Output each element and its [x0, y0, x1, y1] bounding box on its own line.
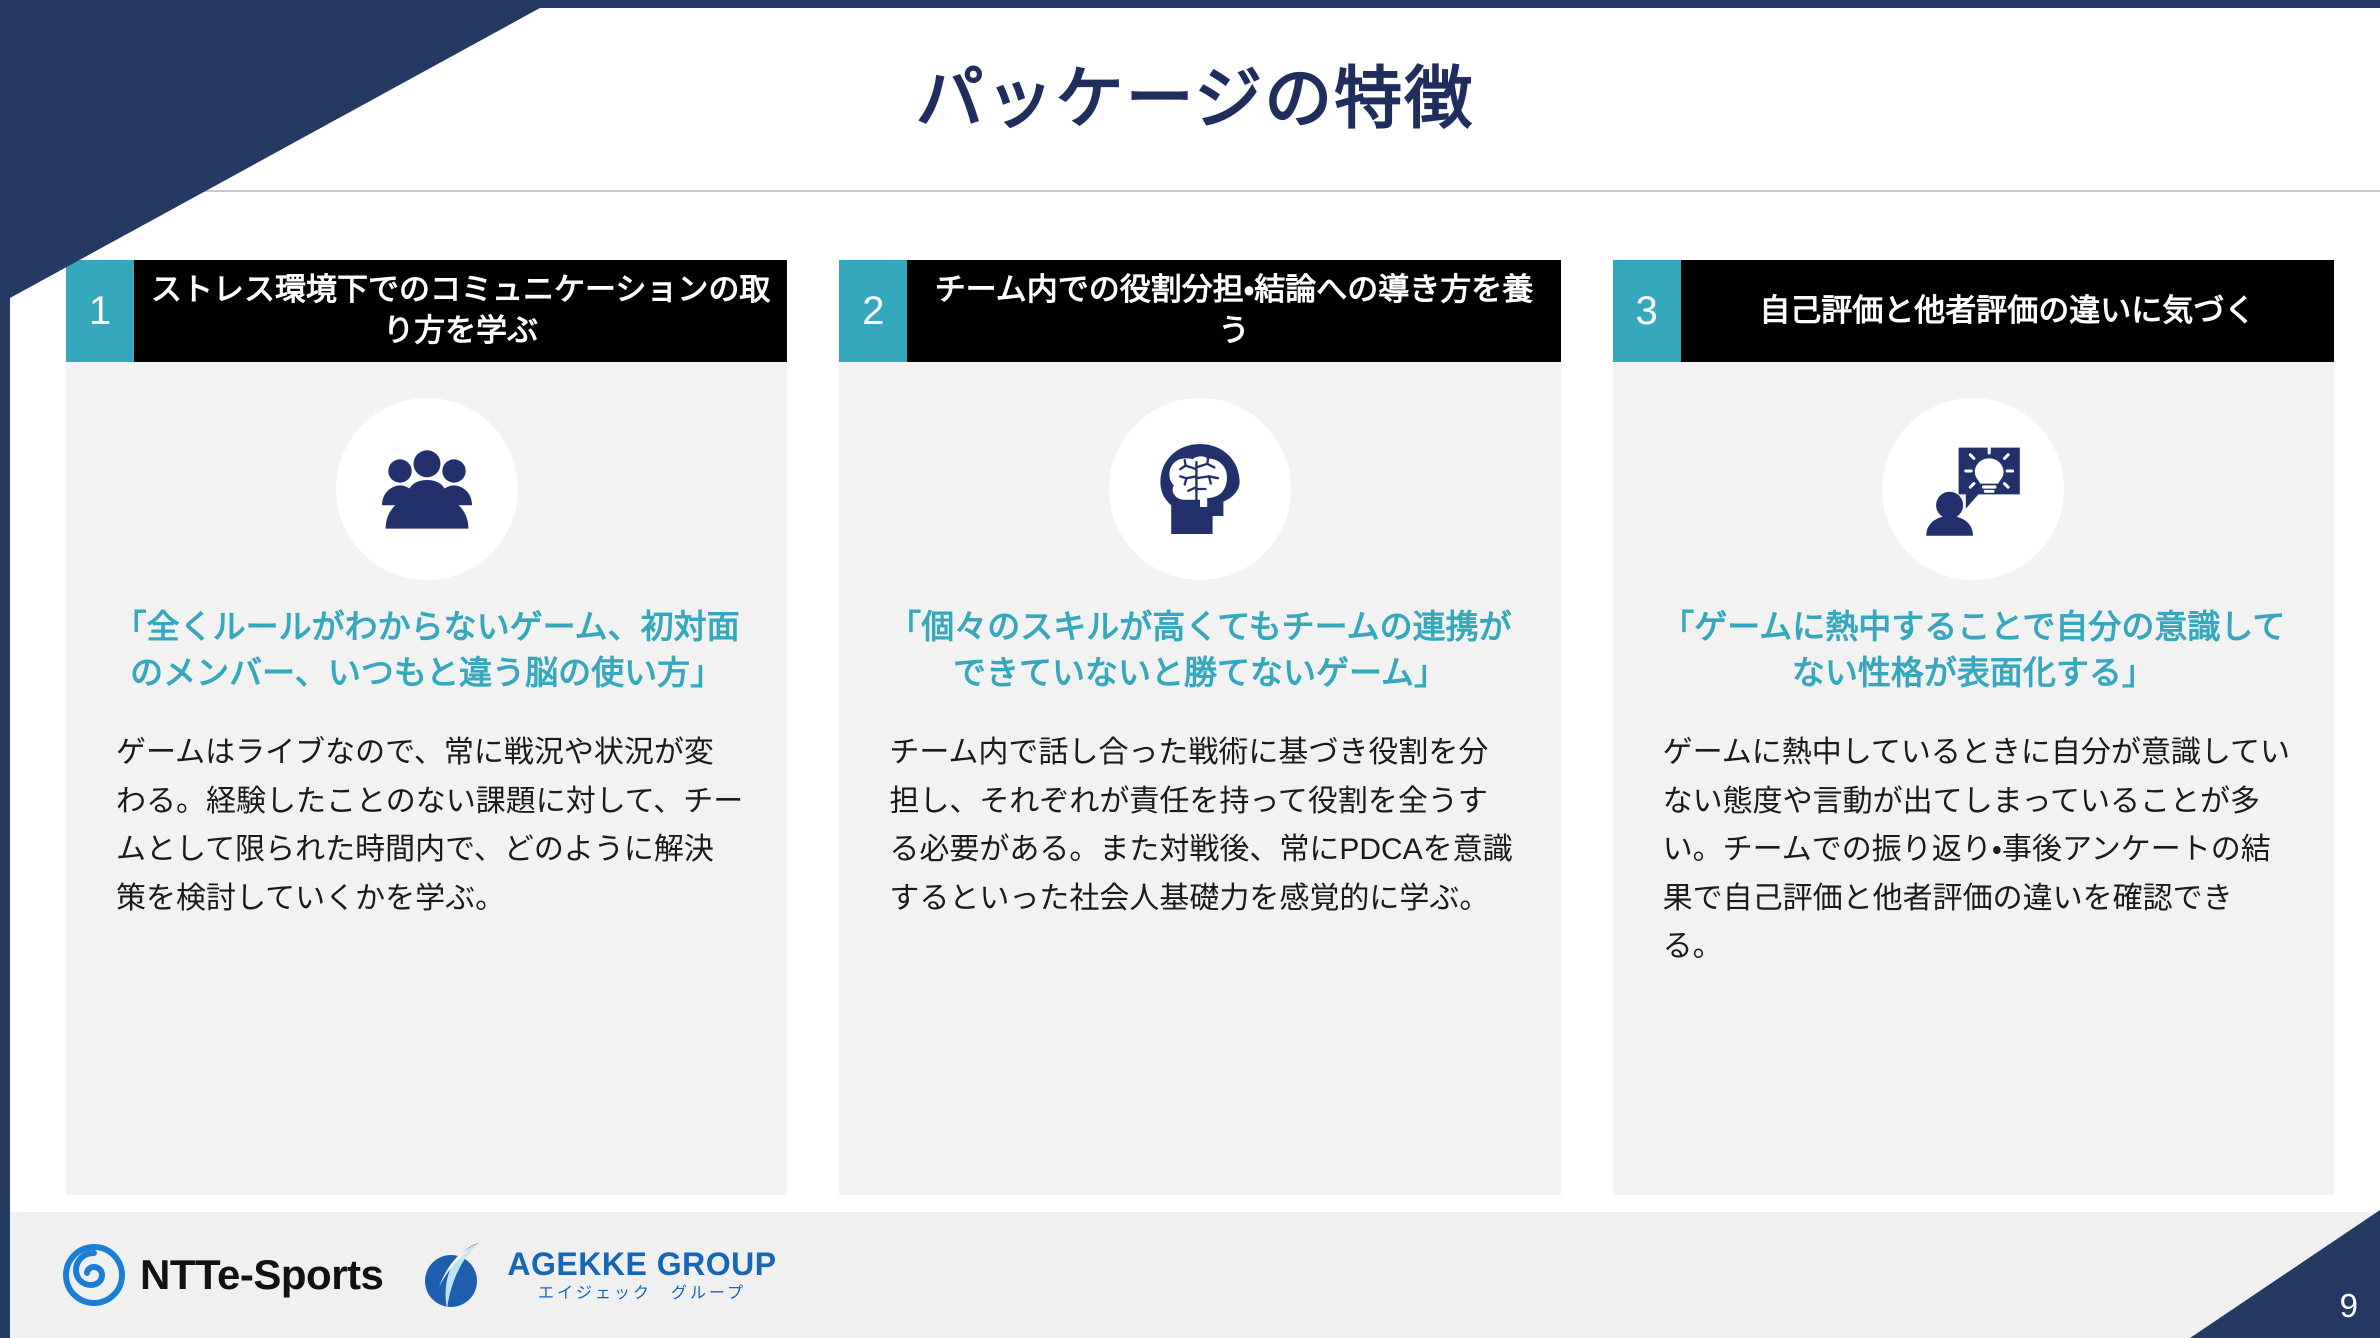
- card-3-icon-wrap: [1613, 398, 2334, 580]
- card-3-heading: 自己評価と他者評価の違いに気づく: [1681, 260, 2334, 362]
- card-1-number-badge: 1: [66, 260, 134, 362]
- card-2-body: チーム内で話し合った戦術に基づき役割を分担し、それぞれが責任を持って役割を全うす…: [839, 695, 1560, 953]
- card-2-heading: チーム内での役割分担・結論への導き方を養う: [907, 260, 1560, 362]
- card-2-number-badge: 2: [839, 260, 907, 362]
- feature-card-3[interactable]: 3 自己評価と他者評価の違いに気づく: [1613, 260, 2334, 1195]
- title-divider: [10, 190, 2380, 192]
- agekke-text-block: AGEKKE GROUP エイジェック グループ: [507, 1248, 776, 1302]
- card-3-quote: 「ゲームに熱中することで自分の意識してない性格が表面化する」: [1613, 596, 2334, 695]
- ntt-esports-logo: NTTe-Sports: [62, 1243, 383, 1307]
- card-3-header: 3 自己評価と他者評価の違いに気づく: [1613, 260, 2334, 362]
- feature-cards-row: 1 ストレス環境下でのコミュニケーションの取り方を学ぶ: [66, 260, 2334, 1195]
- footer-logos: NTTe-Sports AGEKKE GROUP エイジェック グループ: [62, 1212, 777, 1338]
- card-1-icon-circle: [336, 398, 518, 580]
- agekke-name: AGEKKE GROUP: [507, 1248, 776, 1280]
- page-number: 9: [2340, 1289, 2358, 1322]
- card-2-quote: 「個々のスキルが高くてもチームの連携ができていないと勝てないゲーム」: [839, 596, 1560, 695]
- agekke-globe-icon: [417, 1235, 497, 1315]
- card-2-header: 2 チーム内での役割分担・結論への導き方を養う: [839, 260, 1560, 362]
- card-2-icon-wrap: [839, 398, 1560, 580]
- card-3-icon-circle: [1882, 398, 2064, 580]
- slide-root: パッケージの特徴 1 ストレス環境下でのコミュニケーションの取り方を学ぶ: [0, 0, 2380, 1338]
- ntt-brand: NTT: [140, 1251, 217, 1298]
- card-3-number-badge: 3: [1613, 260, 1681, 362]
- card-1-header: 1 ストレス環境下でのコミュニケーションの取り方を学ぶ: [66, 260, 787, 362]
- agekke-group-logo: AGEKKE GROUP エイジェック グループ: [417, 1235, 776, 1315]
- page-title: パッケージの特徴: [916, 65, 1475, 133]
- card-1-body: ゲームはライブなので、常に戦況や状況が変わる。経験したことのない課題に対して、チ…: [66, 695, 787, 953]
- feature-card-1[interactable]: 1 ストレス環境下でのコミュニケーションの取り方を学ぶ: [66, 260, 787, 1195]
- person-idea-bubble-icon: [1919, 435, 2027, 543]
- footer-bar: NTTe-Sports AGEKKE GROUP エイジェック グループ: [10, 1212, 2380, 1338]
- group-people-icon: [373, 435, 481, 543]
- card-1-heading: ストレス環境下でのコミュニケーションの取り方を学ぶ: [134, 260, 787, 362]
- agekke-reading: エイジェック グループ: [507, 1286, 776, 1302]
- feature-card-2[interactable]: 2 チーム内での役割分担・結論への導き方を養う: [839, 260, 1560, 1195]
- ntt-esports-wordmark: NTTe-Sports: [140, 1251, 383, 1299]
- card-1-icon-wrap: [66, 398, 787, 580]
- ntt-spiral-icon: [62, 1243, 126, 1307]
- ntt-suffix: e-Sports: [217, 1251, 383, 1298]
- head-brain-icon: [1146, 435, 1254, 543]
- card-1-quote: 「全くルールがわからないゲーム、初対面のメンバー、いつもと違う脳の使い方」: [66, 596, 787, 695]
- card-2-icon-circle: [1109, 398, 1291, 580]
- title-bar: パッケージの特徴: [10, 8, 2380, 190]
- card-3-body: ゲームに熱中しているときに自分が意識していない態度や言動が出てしまっていることが…: [1613, 695, 2334, 1002]
